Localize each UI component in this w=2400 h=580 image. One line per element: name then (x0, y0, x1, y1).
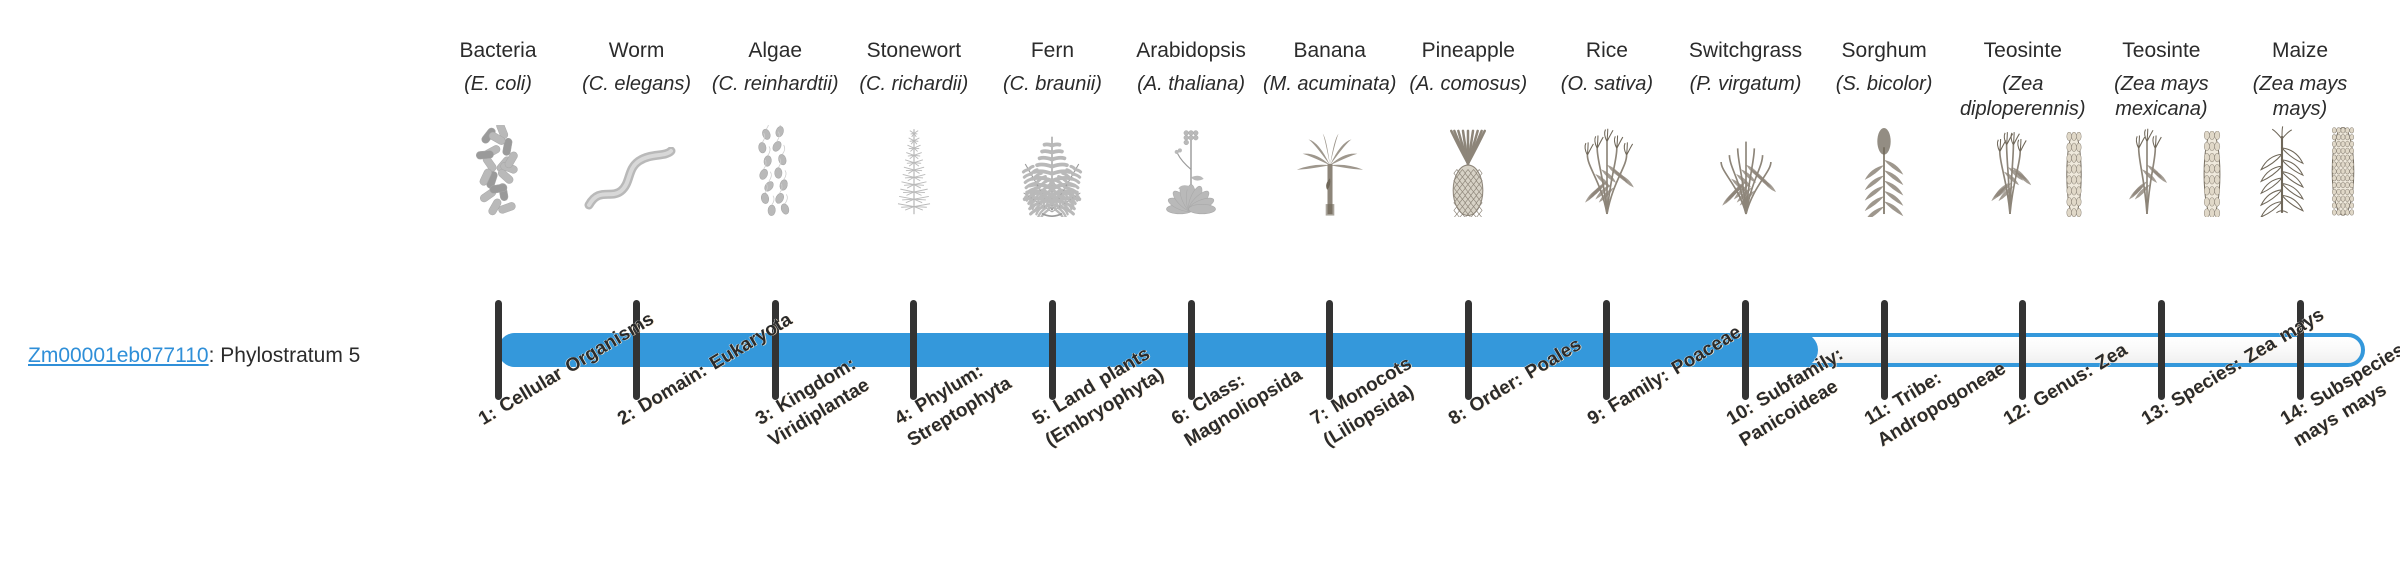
teosinte-mexicana-illustration (2091, 122, 2231, 217)
species-common-name: Stonewort (842, 36, 985, 66)
phylostratum-number: 12: (2000, 398, 2034, 430)
phylostratum-number: 7: (1307, 403, 1332, 430)
rice-illustration (1537, 122, 1677, 217)
species-latin-name: (Zea diploperennis) (1951, 72, 2094, 122)
phylostratum-number: 9: (1584, 403, 1609, 430)
sorghum-illustration (1814, 122, 1954, 217)
species-common-name: Teosinte (2090, 36, 2233, 66)
species-latin-name: (Zea mays mexicana) (2090, 72, 2233, 122)
arabidopsis-illustration (1121, 122, 1261, 217)
stratum-tick (495, 300, 502, 400)
species-column: Worm(C. elegans) (565, 36, 708, 97)
species-latin-name: (O. sativa) (1535, 72, 1678, 97)
species-column: Rice(O. sativa) (1535, 36, 1678, 97)
species-common-name: Maize (2229, 36, 2372, 66)
species-latin-name: (C. richardii) (842, 72, 985, 97)
species-latin-name: (E. coli) (427, 72, 570, 97)
species-column: Maize(Zea mays mays) (2229, 36, 2372, 122)
phylostratum-number: 3: (752, 403, 777, 430)
species-common-name: Arabidopsis (1120, 36, 1263, 66)
species-latin-name: (A. thaliana) (1120, 72, 1263, 97)
species-latin-name: (C. elegans) (565, 72, 708, 97)
species-latin-name: (C. reinhardtii) (704, 72, 847, 97)
phylostratum-rank: Class: Magnoliopsida (1181, 365, 1306, 452)
banana-illustration (1260, 122, 1400, 217)
gene-phylostratum-value: Phylostratum 5 (220, 344, 360, 367)
gene-label-separator: : (209, 344, 221, 367)
species-column: Stonewort(C. richardii) (842, 36, 985, 97)
switchgrass-illustration (1676, 122, 1816, 217)
species-common-name: Sorghum (1813, 36, 1956, 66)
teosinte-diploperennis-illustration (1953, 122, 2093, 217)
phylostratum-number: 4: (891, 403, 916, 430)
species-common-name: Switchgrass (1674, 36, 1817, 66)
species-column: Teosinte(Zea diploperennis) (1951, 36, 2094, 122)
bacteria-illustration (428, 122, 568, 217)
phylostratum-number: 8: (1445, 403, 1470, 430)
fern-illustration (982, 122, 1122, 217)
stonewort-illustration (844, 122, 984, 217)
pineapple-illustration (1398, 122, 1538, 217)
species-common-name: Rice (1535, 36, 1678, 66)
species-common-name: Bacteria (427, 36, 570, 66)
species-common-name: Pineapple (1397, 36, 1540, 66)
gene-id-link[interactable]: Zm00001eb077110 (28, 344, 209, 367)
phylostratigraphy-diagram: Bacteria(E. coli)Worm(C. elegans)Algae(C… (0, 0, 2400, 580)
worm-illustration (567, 122, 707, 217)
species-latin-name: (Zea mays mays) (2229, 72, 2372, 122)
gene-phylostratum-label: Zm00001eb077110: Phylostratum 5 (28, 343, 360, 369)
species-latin-name: (A. comosus) (1397, 72, 1540, 97)
species-column: Arabidopsis(A. thaliana) (1120, 36, 1263, 97)
phylostratum-number: 6: (1168, 403, 1193, 430)
species-common-name: Algae (704, 36, 847, 66)
phylostratum-rank: Kingdom: Viridiplantae (765, 354, 873, 452)
species-column: Teosinte(Zea mays mexicana) (2090, 36, 2233, 122)
species-column: Banana(M. acuminata) (1258, 36, 1401, 97)
phylostratum-number: 2: (614, 403, 639, 430)
species-column: Bacteria(E. coli) (427, 36, 570, 97)
phylostratum-rank: Phylum: Streptophyta (904, 361, 1015, 451)
species-common-name: Banana (1258, 36, 1401, 66)
species-latin-name: (S. bicolor) (1813, 72, 1956, 97)
species-latin-name: (P. virgatum) (1674, 72, 1817, 97)
species-column: Algae(C. reinhardtii) (704, 36, 847, 97)
species-common-name: Worm (565, 36, 708, 66)
algae-illustration (705, 122, 845, 217)
species-header-row: Bacteria(E. coli)Worm(C. elegans)Algae(C… (0, 36, 2400, 306)
phylostratum-number: 13: (2138, 398, 2172, 430)
species-column: Switchgrass(P. virgatum) (1674, 36, 1817, 97)
species-latin-name: (C. braunii) (981, 72, 1124, 97)
species-column: Fern(C. braunii) (981, 36, 1124, 97)
maize-illustration (2230, 122, 2370, 217)
species-column: Sorghum(S. bicolor) (1813, 36, 1956, 97)
phylostratum-number: 1: (475, 403, 500, 430)
species-latin-name: (M. acuminata) (1258, 72, 1401, 97)
phylostratum-rank: Tribe: Andropogoneae (1874, 358, 2010, 451)
phylostratum-number: 5: (1029, 403, 1054, 430)
species-column: Pineapple(A. comosus) (1397, 36, 1540, 97)
species-common-name: Teosinte (1951, 36, 2094, 66)
species-common-name: Fern (981, 36, 1124, 66)
